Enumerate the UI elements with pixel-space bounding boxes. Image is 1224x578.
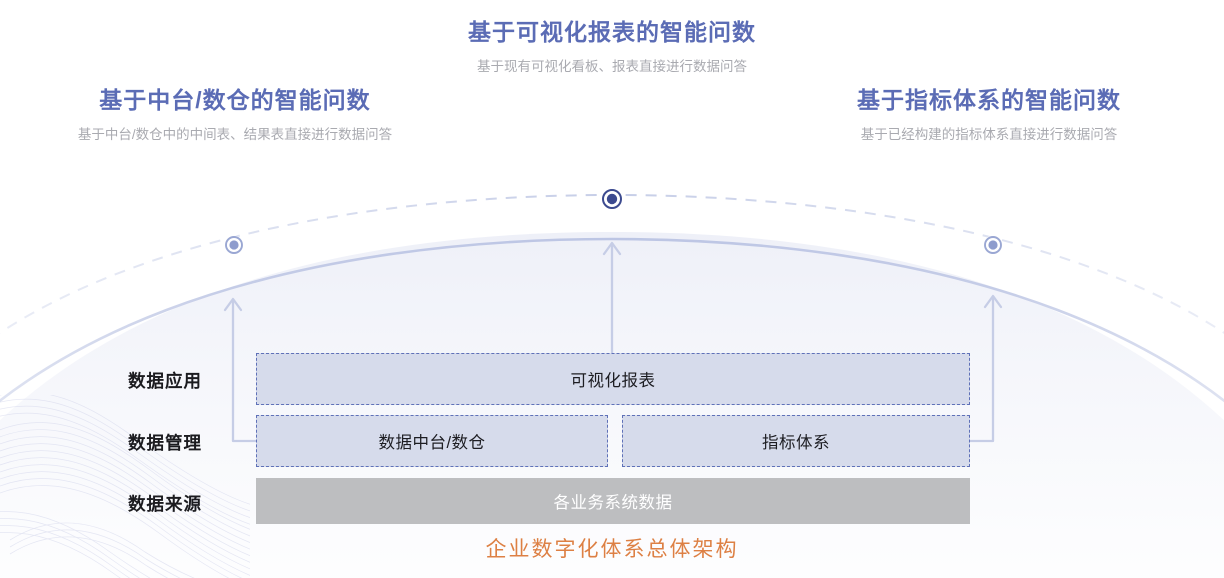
callout-right-title: 基于指标体系的智能问数 [756, 86, 1222, 115]
callout-center: 基于可视化报表的智能问数 基于现有可视化看板、报表直接进行数据问答 [398, 18, 826, 75]
box-metric-system[interactable]: 指标体系 [622, 415, 970, 467]
arrow-left-path [233, 300, 256, 441]
callout-left-subtitle: 基于中台/数仓中的中间表、结果表直接进行数据问答 [0, 126, 470, 144]
architecture-caption: 企业数字化体系总体架构 [0, 533, 1224, 563]
callout-center-subtitle: 基于现有可视化看板、报表直接进行数据问答 [398, 58, 826, 76]
arrow-right-path [970, 297, 993, 441]
arrow-left-head [225, 299, 241, 310]
row-label-data-application: 数据应用 [128, 368, 202, 393]
arrow-right-head [985, 296, 1001, 307]
callout-center-title: 基于可视化报表的智能问数 [398, 18, 826, 47]
box-data-midstage[interactable]: 数据中台/数仓 [256, 415, 608, 467]
callout-left-title: 基于中台/数仓的智能问数 [0, 86, 470, 115]
callout-right-subtitle: 基于已经构建的指标体系直接进行数据问答 [756, 126, 1222, 144]
left-node-dot [225, 236, 244, 255]
box-business-system-data[interactable]: 各业务系统数据 [256, 478, 970, 524]
box-visual-report[interactable]: 可视化报表 [256, 353, 970, 405]
right-node-dot [984, 236, 1003, 255]
arrow-center-head [604, 243, 620, 254]
row-label-data-management: 数据管理 [128, 430, 202, 455]
callout-left: 基于中台/数仓的智能问数 基于中台/数仓中的中间表、结果表直接进行数据问答 [0, 86, 470, 143]
diagram-canvas: 基于中台/数仓的智能问数 基于中台/数仓中的中间表、结果表直接进行数据问答 基于… [0, 0, 1224, 578]
callout-right: 基于指标体系的智能问数 基于已经构建的指标体系直接进行数据问答 [756, 86, 1222, 143]
row-label-data-source: 数据来源 [128, 491, 202, 516]
center-node-dot [602, 189, 623, 210]
